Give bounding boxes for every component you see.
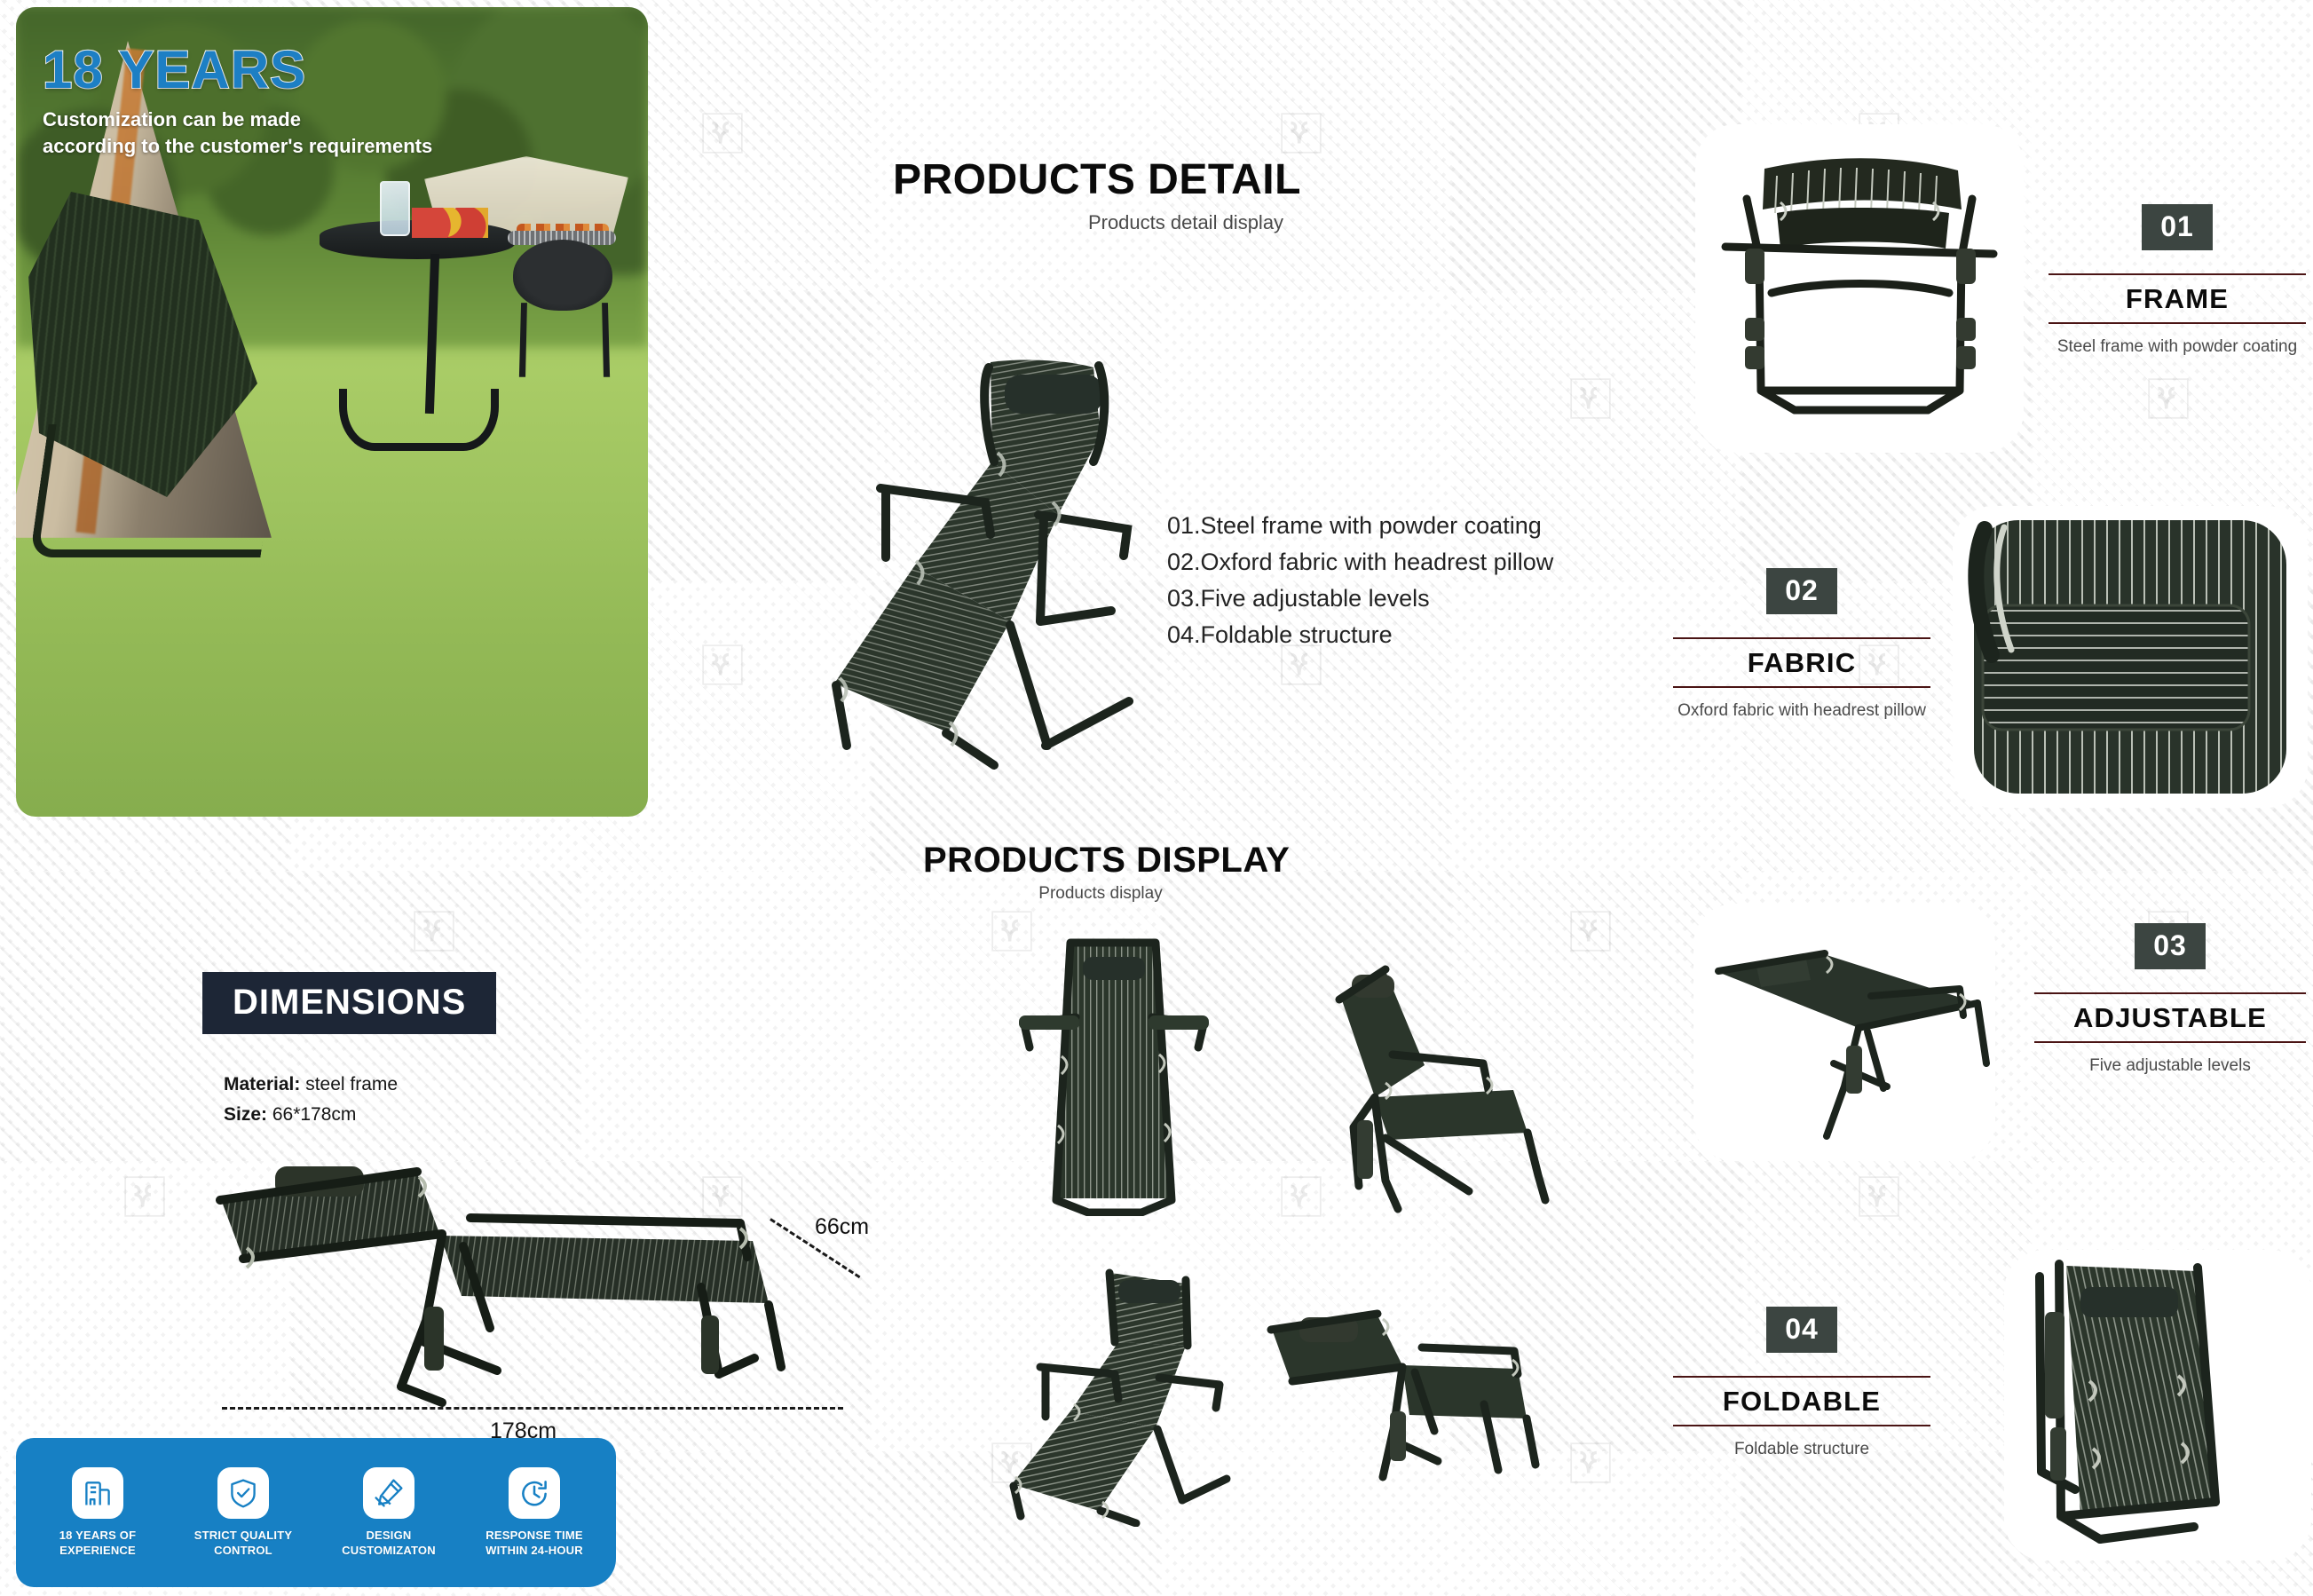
product-feature-list: 01.Steel frame with powder coating 02.Ox… xyxy=(1167,508,1553,653)
adjustable-view-illustration xyxy=(1693,904,1995,1161)
building-icon xyxy=(72,1467,123,1519)
feature-bullet: 02.Oxford fabric with headrest pillow xyxy=(1167,544,1553,581)
main-product-photo xyxy=(781,328,1163,772)
callout-fabric: 02 FABRIC Oxford fabric with headrest pi… xyxy=(1673,568,1930,723)
callout-desc-adjustable: Five adjustable levels xyxy=(2034,1055,2306,1078)
products-display-subtitle: Products display xyxy=(923,884,1278,904)
hero-chair-legs xyxy=(29,424,279,557)
flat-chair-dimension-illustration xyxy=(204,1154,843,1456)
feature-label-design: DESIGNCUSTOMIZATON xyxy=(322,1528,455,1558)
hero-subtitle-line-2: according to the customer's requirements xyxy=(43,133,432,160)
frame-top-view-illustration xyxy=(1695,124,2024,453)
width-dimension-line xyxy=(222,1407,843,1410)
callout-title-frame: FRAME xyxy=(2049,273,2306,324)
display-view-side-upright xyxy=(1300,959,1567,1225)
front-view-illustration xyxy=(1003,932,1225,1216)
display-view-recliner-angle xyxy=(994,1260,1251,1527)
size-row: Size: 66*178cm xyxy=(224,1100,398,1130)
stopwatch-icon xyxy=(509,1467,560,1519)
callout-adjustable: 03 ADJUSTABLE Five adjustable levels xyxy=(2034,923,2306,1078)
dimensions-banner-text: DIMENSIONS xyxy=(233,983,466,1022)
display-view-flat-recline xyxy=(1260,1287,1553,1509)
callout-foldable: 04 FOLDABLE Foldable structure xyxy=(1673,1307,1930,1461)
side-upright-illustration xyxy=(1300,959,1567,1225)
products-display-heading: PRODUCTS DISPLAY Products display xyxy=(923,841,1290,904)
products-detail-heading: PRODUCTS DETAIL Products detail display xyxy=(893,158,1479,234)
material-value: steel frame xyxy=(300,1074,398,1094)
callout-desc-foldable: Foldable structure xyxy=(1673,1438,1930,1461)
callout-title-fabric: FABRIC xyxy=(1673,637,1930,688)
dimensions-product-photo xyxy=(204,1154,843,1456)
callout-title-foldable: FOLDABLE xyxy=(1673,1376,1930,1426)
recliner-angle-illustration xyxy=(994,1260,1251,1527)
hero-subtitle-line-1: Customization can be made xyxy=(43,107,432,133)
shield-check-icon xyxy=(217,1467,269,1519)
material-row: Material: steel frame xyxy=(224,1070,398,1100)
feature-label-response: RESPONSE TIMEWITHIN 24-HOUR xyxy=(468,1528,601,1558)
fruit-bowl xyxy=(412,208,488,238)
feature-bullet: 03.Five adjustable levels xyxy=(1167,581,1553,617)
material-label: Material: xyxy=(224,1074,300,1094)
pencil-ruler-icon xyxy=(363,1467,414,1519)
hero-banner-image: 18 YEARS Customization can be made accor… xyxy=(16,7,648,817)
water-jug xyxy=(380,181,410,236)
products-detail-subtitle: Products detail display xyxy=(893,211,1479,234)
product-card-adjustable xyxy=(1693,904,1995,1161)
feature-bullet: 04.Foldable structure xyxy=(1167,617,1553,653)
garden-table-base xyxy=(339,389,499,451)
display-view-front xyxy=(1003,932,1225,1216)
fabric-closeup-illustration xyxy=(1953,506,2308,808)
hero-subtitle: Customization can be made according to t… xyxy=(43,107,432,160)
size-label: Size: xyxy=(224,1104,267,1125)
feature-item-design: DESIGNCUSTOMIZATON xyxy=(322,1467,455,1558)
product-card-frame xyxy=(1695,124,2024,453)
grill-legs xyxy=(519,303,610,377)
hero-title: 18 YEARS xyxy=(43,39,306,100)
callout-number-02: 02 xyxy=(1766,568,1837,614)
feature-bullet: 01.Steel frame with powder coating xyxy=(1167,508,1553,544)
feature-item-quality: STRICT QUALITYCONTROL xyxy=(177,1467,310,1558)
feature-item-experience: 18 YEARS OFEXPERIENCE xyxy=(31,1467,164,1558)
products-detail-title: PRODUCTS DETAIL xyxy=(893,158,1479,202)
feature-item-response: RESPONSE TIMEWITHIN 24-HOUR xyxy=(468,1467,601,1558)
callout-number-03: 03 xyxy=(2135,923,2206,969)
folded-view-illustration xyxy=(2004,1250,2311,1560)
company-feature-bar: 18 YEARS OFEXPERIENCE STRICT QUALITYCONT… xyxy=(16,1438,616,1587)
products-display-title: PRODUCTS DISPLAY xyxy=(923,841,1290,879)
dimensions-meta: Material: steel frame Size: 66*178cm xyxy=(224,1070,398,1130)
callout-desc-fabric: Oxford fabric with headrest pillow xyxy=(1673,699,1930,723)
depth-dimension-label: 66cm xyxy=(815,1214,869,1240)
recliner-chair-illustration xyxy=(781,328,1163,772)
product-card-fabric xyxy=(1953,506,2308,808)
callout-number-04: 04 xyxy=(1766,1307,1837,1353)
product-detail-page: 18 YEARS Customization can be made accor… xyxy=(0,0,2313,1596)
bbq-grill xyxy=(513,240,612,311)
feature-label-experience: 18 YEARS OFEXPERIENCE xyxy=(31,1528,164,1558)
dimensions-banner: DIMENSIONS xyxy=(202,972,496,1034)
feature-label-quality: STRICT QUALITYCONTROL xyxy=(177,1528,310,1558)
callout-frame: 01 FRAME Steel frame with powder coating xyxy=(2049,204,2306,359)
callout-number-01: 01 xyxy=(2142,204,2213,250)
callout-title-adjustable: ADJUSTABLE xyxy=(2034,992,2306,1043)
callout-desc-frame: Steel frame with powder coating xyxy=(2049,336,2306,359)
flat-recline-illustration xyxy=(1260,1287,1553,1509)
size-value: 66*178cm xyxy=(267,1104,356,1125)
product-card-foldable xyxy=(2004,1250,2311,1560)
